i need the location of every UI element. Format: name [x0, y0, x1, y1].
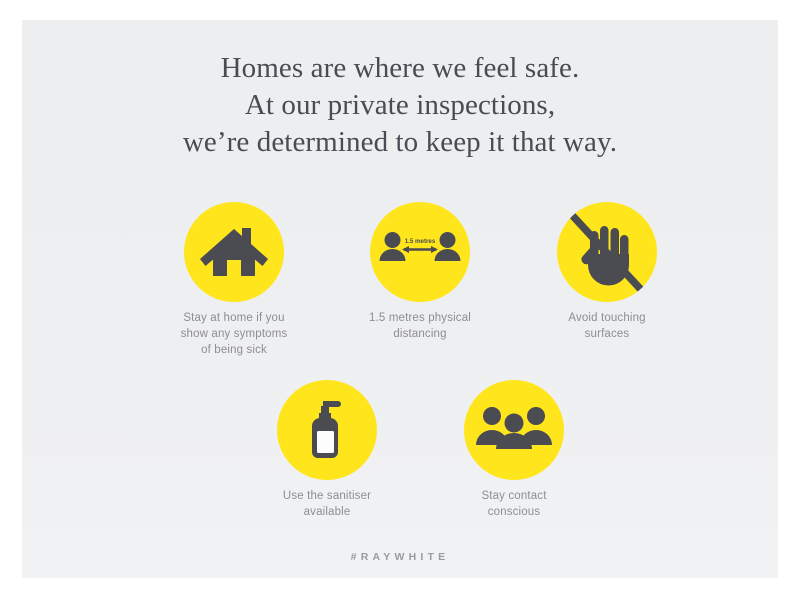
brand-hashtag: #RAYWHITE	[22, 551, 778, 563]
caption-line-2: conscious	[488, 506, 541, 518]
icon-badge-sanitiser	[277, 380, 377, 480]
headline-line-1: Homes are where we feel safe.	[22, 50, 778, 87]
tile-physical-distancing: 1.5 metres 1.5 metres physical distancin…	[325, 202, 515, 343]
icon-badge-touch	[557, 202, 657, 302]
tile-caption-sanitiser: Use the sanitiser available	[232, 489, 422, 521]
caption-line-3: of being sick	[201, 344, 267, 356]
poster: Homes are where we feel safe. At our pri…	[22, 20, 778, 578]
tile-use-sanitiser: Use the sanitiser available	[232, 380, 422, 521]
caption-line-2: surfaces	[585, 328, 630, 340]
headline-line-2: At our private inspections,	[22, 87, 778, 124]
tile-avoid-touching: Avoid touching surfaces	[512, 202, 702, 343]
social-distance-icon: 1.5 metres	[370, 202, 470, 302]
no-touch-hand-icon	[557, 202, 657, 302]
page-title: Homes are where we feel safe. At our pri…	[22, 50, 778, 161]
caption-line-1: Use the sanitiser	[283, 490, 371, 502]
caption-line-2: show any symptoms	[181, 328, 288, 340]
icon-badge-distance: 1.5 metres	[370, 202, 470, 302]
headline-line-3: we’re determined to keep it that way.	[22, 124, 778, 161]
caption-line-1: Avoid touching	[568, 312, 645, 324]
icon-badge-contact	[464, 380, 564, 480]
house-icon	[184, 202, 284, 302]
tile-caption-distance: 1.5 metres physical distancing	[325, 311, 515, 343]
tile-stay-at-home: Stay at home if you show any symptoms of…	[139, 202, 329, 359]
distance-measure-label: 1.5 metres	[405, 238, 436, 245]
caption-line-2: distancing	[393, 328, 446, 340]
sanitiser-pump-bottle-icon	[277, 380, 377, 480]
icon-badge-home	[184, 202, 284, 302]
caption-line-1: 1.5 metres physical	[369, 312, 471, 324]
tile-caption-home: Stay at home if you show any symptoms of…	[139, 311, 329, 359]
caption-line-1: Stay at home if you	[183, 312, 284, 324]
caption-line-2: available	[304, 506, 351, 518]
tile-caption-touch: Avoid touching surfaces	[512, 311, 702, 343]
tile-caption-contact: Stay contact conscious	[419, 489, 609, 521]
group-of-people-icon	[464, 380, 564, 480]
caption-line-1: Stay contact	[481, 490, 546, 502]
tile-stay-contact-conscious: Stay contact conscious	[419, 380, 609, 521]
